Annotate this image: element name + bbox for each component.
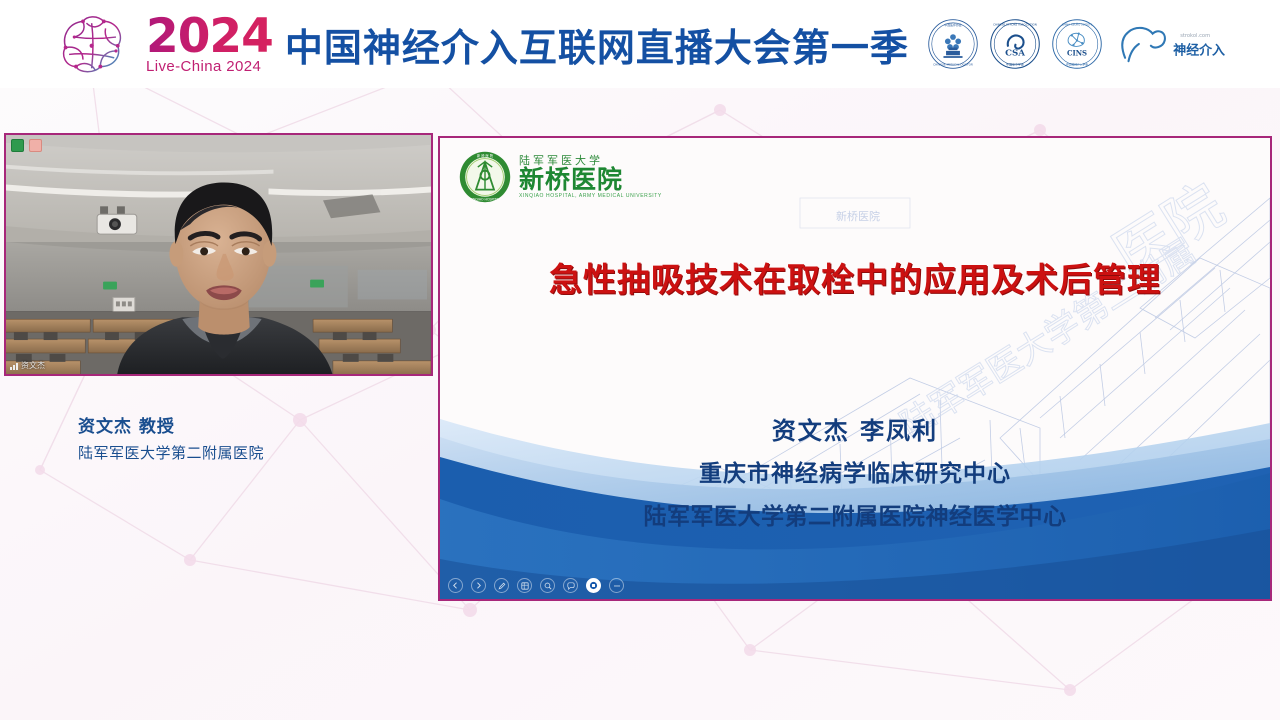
presenter-video[interactable]: 资文杰 (4, 133, 433, 376)
brain-network-logo (56, 11, 136, 77)
speech-bubble-icon (567, 582, 575, 590)
strokol-shenjing-jieru-online-logo: strokol.com 神经介入在线 (1113, 17, 1225, 71)
grid-icon (521, 582, 529, 590)
speaker-caption: 资文杰 教授 陆军军医大学第二附属医院 (78, 412, 264, 463)
slide-affiliation-1: 重庆市神经病学临床研究中心 (440, 454, 1270, 488)
slide-canvas: 新桥医院 医院 陆军军医大学第二附属 (440, 138, 1270, 599)
svg-text:中国卒中学会: 中国卒中学会 (1006, 62, 1024, 67)
svg-text:新 桥 医 院: 新 桥 医 院 (477, 153, 494, 158)
previous-slide-button[interactable] (448, 578, 463, 593)
svg-text:CHINESE STROKE ASSOCIATION: CHINESE STROKE ASSOCIATION (993, 22, 1037, 26)
presentation-toolbar[interactable] (448, 578, 624, 593)
svg-text:XINQIAO HOSPITAL: XINQIAO HOSPITAL (470, 197, 501, 201)
ellipsis-icon (613, 582, 621, 590)
svg-text:CHINESE MEDICAL DOCTOR: CHINESE MEDICAL DOCTOR (933, 63, 973, 67)
chinese-medical-doctor-association-logo: 中国医师协会 CHINESE MEDICAL DOCTOR (927, 18, 979, 70)
svg-text:CHINA NEURO SOCIETY: CHINA NEURO SOCIETY (1062, 22, 1093, 26)
signal-bars-icon (10, 362, 18, 370)
video-feed-image (6, 135, 431, 376)
chevron-right-icon (475, 582, 482, 589)
organization-logos: 中国医师协会 CHINESE MEDICAL DOCTOR CSA CHINES… (927, 17, 1225, 71)
csa-chinese-stroke-association-logo: CSA CHINESE STROKE ASSOCIATION 中国卒中学会 (989, 18, 1041, 70)
mute-badge (29, 139, 42, 152)
slide-authors: 资文杰 李凤利 (440, 411, 1270, 446)
slide-authors-block: 资文杰 李凤利 重庆市神经病学临床研究中心 陆军军医大学第二附属医院神经医学中心 (440, 411, 1270, 531)
cins-logo: CINS CHINA NEURO SOCIETY 中国神经介入学会 (1051, 18, 1103, 70)
annotate-pen-button[interactable] (494, 578, 509, 593)
stop-share-button[interactable] (586, 578, 601, 593)
year-block: 2024 Live-China 2024 (146, 15, 273, 75)
svg-text:CINS: CINS (1067, 48, 1087, 57)
captions-button[interactable] (563, 578, 578, 593)
svg-text:中国神经介入学会: 中国神经介入学会 (1066, 63, 1088, 67)
conference-title: 中国神经介入互联网直播大会第一季 (285, 17, 909, 72)
magnifier-icon (544, 582, 552, 590)
pen-icon (498, 582, 506, 590)
svg-text:CSA: CSA (1005, 48, 1025, 58)
hospital-logo: 新 桥 医 院 XINQIAO HOSPITAL 陆军军医大学 新桥医院 XIN… (458, 150, 662, 204)
conference-header-banner: 2024 Live-China 2024 中国神经介入互联网直播大会第一季 中国… (0, 0, 1280, 88)
shared-slide-panel[interactable]: 新桥医院 医院 陆军军医大学第二附属 (438, 136, 1272, 601)
slide-title: 急性抽吸技术在取栓中的应用及术后管理 (440, 253, 1270, 301)
svg-text:神经介入在线: 神经介入在线 (1173, 42, 1225, 58)
video-participant-label: 资文杰 (10, 360, 45, 371)
slide-affiliation-2: 陆军军医大学第二附属医院神经医学中心 (440, 497, 1270, 531)
xinqiao-hospital-seal-icon: 新 桥 医 院 XINQIAO HOSPITAL (458, 150, 512, 204)
stop-circle-icon (589, 581, 598, 590)
svg-text:新桥医院: 新桥医院 (836, 209, 880, 223)
video-status-badges (11, 139, 42, 152)
hospital-english-name: XINQIAO HOSPITAL, ARMY MEDICAL UNIVERSIT… (519, 194, 662, 199)
more-options-button[interactable] (609, 578, 624, 593)
hospital-name: 新桥医院 (519, 167, 662, 192)
slide-thumbnails-button[interactable] (517, 578, 532, 593)
svg-text:strokol.com: strokol.com (1180, 33, 1210, 39)
chevron-left-icon (452, 582, 459, 589)
live-china-label: Live-China 2024 (146, 58, 273, 75)
zoom-button[interactable] (540, 578, 555, 593)
participant-name: 资文杰 (21, 360, 45, 371)
speaker-name: 资文杰 教授 (78, 412, 264, 437)
year-label: 2024 (146, 15, 273, 60)
next-slide-button[interactable] (471, 578, 486, 593)
speaker-organization: 陆军军医大学第二附属医院 (78, 442, 264, 463)
recording-badge (11, 139, 24, 152)
svg-text:中国医师协会: 中国医师协会 (944, 22, 961, 27)
